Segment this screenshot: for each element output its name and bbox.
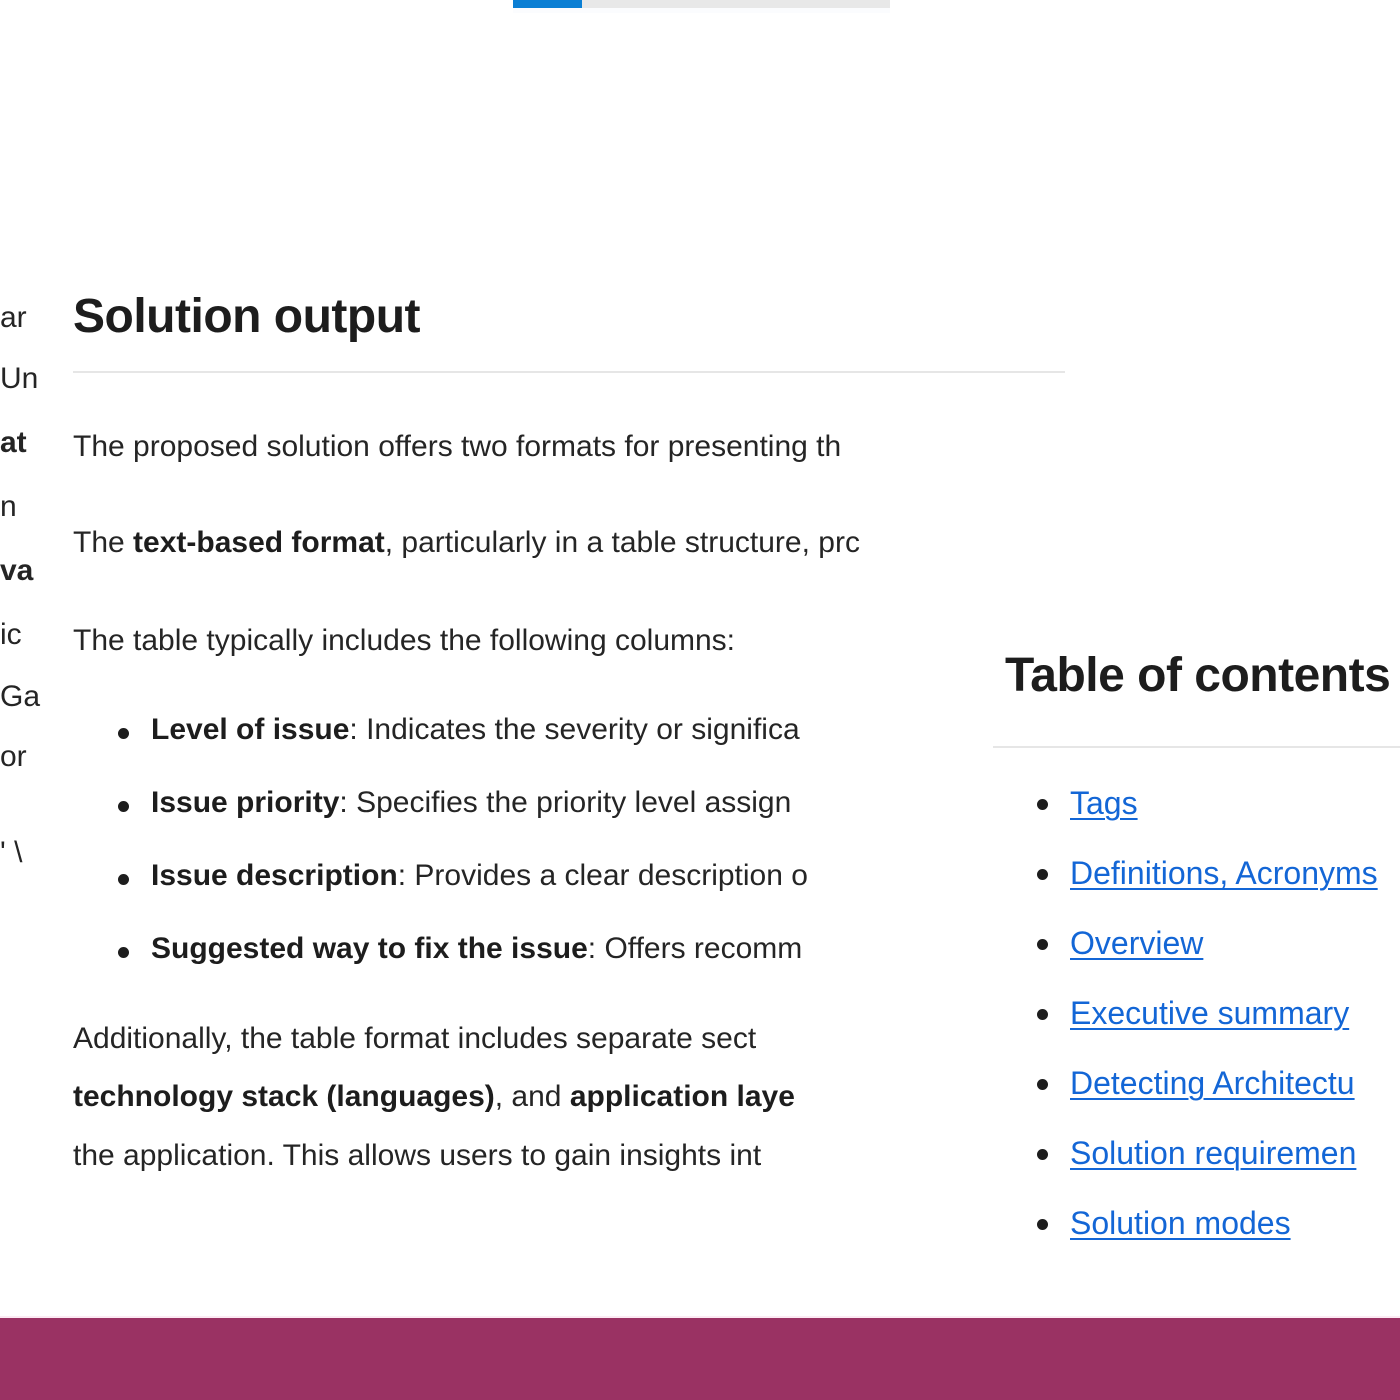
- list-item-description: : Offers recomm: [588, 932, 802, 965]
- paragraph-additional-mid: , and: [495, 1080, 570, 1113]
- paragraph-suffix: , particularly in a table structure, prc: [385, 526, 860, 559]
- toc-link-detecting-architecture[interactable]: Detecting Architectu: [1070, 1065, 1355, 1102]
- clipped-text-line: ar: [0, 303, 27, 333]
- clipped-text-line: or: [0, 742, 27, 772]
- list-item-term: Suggested way to fix the issue: [151, 932, 588, 965]
- paragraph-additional-line3: the application. This allows users to ga…: [73, 1137, 761, 1175]
- page-title: Solution output: [73, 289, 420, 344]
- clipped-text-line: va: [0, 556, 33, 586]
- paragraph-additional-line2: technology stack (languages), and applic…: [73, 1078, 795, 1116]
- footer-band: [0, 1318, 1400, 1400]
- list-item: Issue description: Provides a clear desc…: [151, 858, 808, 894]
- list-item: Suggested way to fix the issue: Offers r…: [151, 931, 808, 967]
- clipped-text-line: Ga: [0, 682, 40, 712]
- list-item: Executive summary: [1070, 995, 1400, 1031]
- emphasis-technology-stack: technology stack (languages): [73, 1080, 495, 1113]
- list-item-term: Issue description: [151, 859, 398, 892]
- title-divider: [73, 371, 1065, 373]
- paragraph-columns-lead-in: The table typically includes the followi…: [73, 622, 735, 660]
- clipped-text-line: n: [0, 492, 17, 522]
- list-item: Issue priority: Specifies the priority l…: [151, 785, 808, 821]
- clipped-text-line: ic: [0, 620, 22, 650]
- paragraph-intro-text: The proposed solution offers two formats…: [73, 430, 841, 463]
- table-of-contents-divider: [993, 746, 1400, 748]
- paragraph-additional-line1: Additionally, the table format includes …: [73, 1020, 756, 1058]
- list-item: Solution modes: [1070, 1205, 1400, 1241]
- list-item-term: Level of issue: [151, 713, 349, 746]
- list-item-description: : Provides a clear description o: [398, 859, 808, 892]
- paragraph-additional-text: Additionally, the table format includes …: [73, 1022, 756, 1055]
- toc-link-tags[interactable]: Tags: [1070, 785, 1138, 822]
- list-item-term: Issue priority: [151, 786, 339, 819]
- table-of-contents-title: Table of contents: [1005, 648, 1390, 703]
- list-item: Definitions, Acronyms: [1070, 855, 1400, 891]
- toc-link-solution-requirements[interactable]: Solution requiremen: [1070, 1135, 1356, 1172]
- article-column: Solution output The proposed solution of…: [60, 0, 1070, 1318]
- clipped-text-line: Un: [0, 364, 38, 394]
- table-of-contents-list: Tags Definitions, Acronyms Overview Exec…: [995, 785, 1400, 1275]
- list-item: Detecting Architectu: [1070, 1065, 1400, 1101]
- toc-link-solution-modes[interactable]: Solution modes: [1070, 1205, 1291, 1242]
- list-item: Solution requiremen: [1070, 1135, 1400, 1171]
- paragraph-text-based-format: The text-based format, particularly in a…: [73, 524, 860, 562]
- paragraph-intro: The proposed solution offers two formats…: [73, 428, 841, 466]
- paragraph-additional-text-3: the application. This allows users to ga…: [73, 1139, 761, 1172]
- list-item: Level of issue: Indicates the severity o…: [151, 712, 808, 748]
- columns-list: Level of issue: Indicates the severity o…: [73, 712, 808, 1004]
- table-of-contents-panel: Table of contents Tags Definitions, Acro…: [965, 600, 1400, 1318]
- list-item: Overview: [1070, 925, 1400, 961]
- list-item: Tags: [1070, 785, 1400, 821]
- toc-link-overview[interactable]: Overview: [1070, 925, 1203, 962]
- toc-link-definitions-acronyms[interactable]: Definitions, Acronyms: [1070, 855, 1378, 892]
- paragraph-prefix: The: [73, 526, 133, 559]
- toc-link-executive-summary[interactable]: Executive summary: [1070, 995, 1349, 1032]
- list-item-description: : Specifies the priority level assign: [339, 786, 791, 819]
- clipped-text-line: at: [0, 428, 27, 458]
- clipped-left-column: o the following: itecture drift and eros…: [0, 0, 60, 1318]
- list-item-description: : Indicates the severity or significa: [349, 713, 799, 746]
- clipped-text-line: ' \: [0, 838, 22, 868]
- paragraph-columns-text: The table typically includes the followi…: [73, 624, 735, 657]
- emphasis-application-layer: application laye: [570, 1080, 795, 1113]
- emphasis-text-based-format: text-based format: [133, 526, 385, 559]
